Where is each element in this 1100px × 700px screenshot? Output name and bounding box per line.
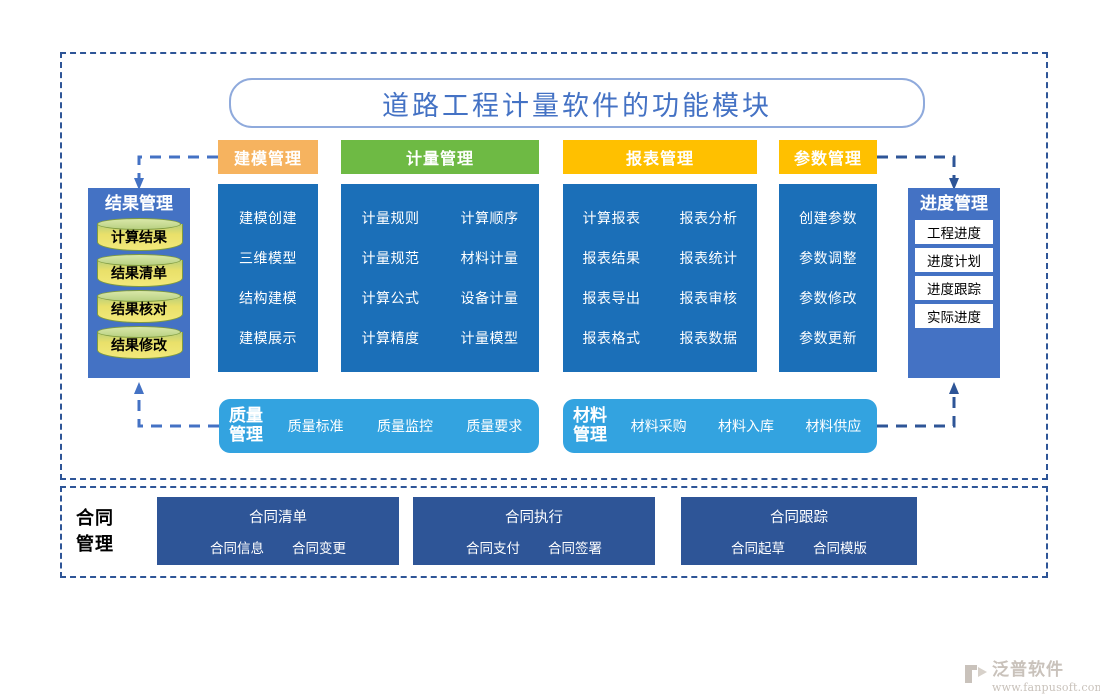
list-item: 计算结果 — [97, 227, 181, 247]
list-item: 计量模型 — [461, 328, 519, 348]
panel-row: 建模展示 — [218, 328, 318, 348]
diagram-canvas: 道路工程计量软件的功能模块 建模管理 计量管理 报表管理 参数管理 建模创建 三… — [0, 0, 1100, 700]
panel-parameter: 创建参数 参数调整 参数修改 参数更新 — [779, 184, 877, 372]
contract-box-title: 合同清单 — [249, 506, 307, 527]
bar-quality-items: 质量标准 质量监控 质量要求 — [271, 416, 539, 436]
database-cylinder-icon: 结果修改 — [97, 326, 181, 360]
panel-row: 计算公式 设备计量 — [341, 288, 539, 308]
list-item: 材料入库 — [718, 416, 774, 436]
contract-box-execution: 合同执行 合同支付 合同签署 — [413, 497, 655, 565]
panel-row: 三维模型 — [218, 248, 318, 268]
bar-quality-title-line1: 质量 — [229, 407, 271, 426]
list-item: 合同变更 — [292, 537, 346, 557]
list-item: 报表分析 — [680, 208, 738, 228]
list-item: 设备计量 — [461, 288, 519, 308]
watermark-text: 泛普软件 www.fanpusoft.com — [992, 662, 1100, 693]
panel-progress-title: 进度管理 — [908, 192, 1000, 216]
list-item: 材料采购 — [631, 416, 687, 436]
panel-result-management: 结果管理 计算结果 结果清单 结果核对 结果修改 — [88, 188, 190, 378]
contract-section-label: 合同 管理 — [76, 500, 146, 564]
list-item: 计量规范 — [362, 248, 420, 268]
diagram-title-text: 道路工程计量软件的功能模块 — [382, 84, 772, 123]
panel-row: 计量规则 计算顺序 — [341, 208, 539, 228]
contract-label-line1: 合同 — [76, 506, 114, 532]
list-item: 工程进度 — [915, 220, 993, 244]
panel-progress-management: 进度管理 工程进度 进度计划 进度跟踪 实际进度 — [908, 188, 1000, 378]
bar-material-title-line1: 材料 — [573, 407, 615, 426]
panel-row: 报表导出 报表审核 — [563, 288, 757, 308]
list-item: 材料供应 — [805, 416, 861, 436]
list-item: 合同签署 — [548, 537, 602, 557]
fanpu-logo-icon — [963, 663, 989, 685]
list-item: 结果修改 — [97, 335, 181, 355]
list-item: 合同支付 — [466, 537, 520, 557]
list-item: 结构建模 — [239, 288, 297, 308]
contract-box-list: 合同清单 合同信息 合同变更 — [157, 497, 399, 565]
list-item: 质量监控 — [377, 416, 433, 436]
list-item: 计算报表 — [583, 208, 641, 228]
panel-row: 参数调整 — [779, 248, 877, 268]
header-chip-modeling: 建模管理 — [218, 140, 318, 174]
list-item: 合同模版 — [813, 537, 867, 557]
bar-material-management: 材料 管理 材料采购 材料入库 材料供应 — [563, 399, 877, 453]
bar-material-title: 材料 管理 — [573, 407, 615, 445]
list-item: 创建参数 — [799, 208, 857, 228]
panel-row: 参数更新 — [779, 328, 877, 348]
contract-box-items: 合同支付 合同签署 — [466, 537, 602, 557]
list-item: 参数更新 — [799, 328, 857, 348]
header-chip-modeling-label: 建模管理 — [234, 145, 302, 169]
list-item: 计算公式 — [362, 288, 420, 308]
watermark-brand: 泛普软件 — [992, 662, 1100, 679]
database-cylinder-icon: 结果清单 — [97, 254, 181, 288]
list-item: 报表审核 — [680, 288, 738, 308]
panel-modeling: 建模创建 三维模型 结构建模 建模展示 — [218, 184, 318, 372]
database-cylinder-icon: 计算结果 — [97, 218, 181, 252]
watermark-url: www.fanpusoft.com — [992, 682, 1100, 693]
list-item: 报表导出 — [583, 288, 641, 308]
panel-row: 创建参数 — [779, 208, 877, 228]
header-chip-report-label: 报表管理 — [626, 145, 694, 169]
list-item: 报表统计 — [680, 248, 738, 268]
bar-material-items: 材料采购 材料入库 材料供应 — [615, 416, 877, 436]
list-item: 参数调整 — [799, 248, 857, 268]
contract-box-title: 合同跟踪 — [770, 506, 828, 527]
list-item: 进度计划 — [915, 248, 993, 272]
list-item: 计算精度 — [362, 328, 420, 348]
bar-quality-management: 质量 管理 质量标准 质量监控 质量要求 — [219, 399, 539, 453]
panel-row: 计量规范 材料计量 — [341, 248, 539, 268]
list-item: 建模创建 — [239, 208, 297, 228]
panel-row: 报表结果 报表统计 — [563, 248, 757, 268]
list-item: 结果清单 — [97, 263, 181, 283]
list-item: 材料计量 — [461, 248, 519, 268]
list-item: 结果核对 — [97, 299, 181, 319]
panel-row: 计算精度 计量模型 — [341, 328, 539, 348]
bar-quality-title-line2: 管理 — [229, 426, 271, 445]
panel-row: 计算报表 报表分析 — [563, 208, 757, 228]
list-item: 进度跟踪 — [915, 276, 993, 300]
header-chip-parameter-label: 参数管理 — [794, 145, 862, 169]
list-item: 参数修改 — [799, 288, 857, 308]
contract-box-tracking: 合同跟踪 合同起草 合同模版 — [681, 497, 917, 565]
contract-box-items: 合同起草 合同模版 — [731, 537, 867, 557]
contract-box-items: 合同信息 合同变更 — [210, 537, 346, 557]
contract-box-title: 合同执行 — [505, 506, 563, 527]
list-item: 报表数据 — [680, 328, 738, 348]
list-item: 报表格式 — [583, 328, 641, 348]
panel-report: 计算报表 报表分析 报表结果 报表统计 报表导出 报表审核 报表格式 报表数据 — [563, 184, 757, 372]
header-chip-measurement-label: 计量管理 — [406, 145, 474, 169]
panel-row: 报表格式 报表数据 — [563, 328, 757, 348]
list-item: 质量要求 — [466, 416, 522, 436]
panel-row: 参数修改 — [779, 288, 877, 308]
list-item: 建模展示 — [239, 328, 297, 348]
bar-material-title-line2: 管理 — [573, 426, 615, 445]
list-item: 实际进度 — [915, 304, 993, 328]
list-item: 报表结果 — [583, 248, 641, 268]
list-item: 计量规则 — [362, 208, 420, 228]
bar-quality-title: 质量 管理 — [229, 407, 271, 445]
list-item: 合同起草 — [731, 537, 785, 557]
header-chip-parameter: 参数管理 — [779, 140, 877, 174]
contract-label-line2: 管理 — [76, 532, 114, 558]
header-chip-measurement: 计量管理 — [341, 140, 539, 174]
watermark: 泛普软件 www.fanpusoft.com — [963, 662, 1093, 696]
panel-measurement: 计量规则 计算顺序 计量规范 材料计量 计算公式 设备计量 计算精度 计量模型 — [341, 184, 539, 372]
header-chip-report: 报表管理 — [563, 140, 757, 174]
list-item: 质量标准 — [288, 416, 344, 436]
database-cylinder-icon: 结果核对 — [97, 290, 181, 324]
panel-row: 建模创建 — [218, 208, 318, 228]
panel-row: 结构建模 — [218, 288, 318, 308]
list-item: 三维模型 — [239, 248, 297, 268]
list-item: 计算顺序 — [461, 208, 519, 228]
diagram-title: 道路工程计量软件的功能模块 — [229, 78, 925, 128]
list-item: 合同信息 — [210, 537, 264, 557]
panel-result-title: 结果管理 — [88, 192, 190, 216]
